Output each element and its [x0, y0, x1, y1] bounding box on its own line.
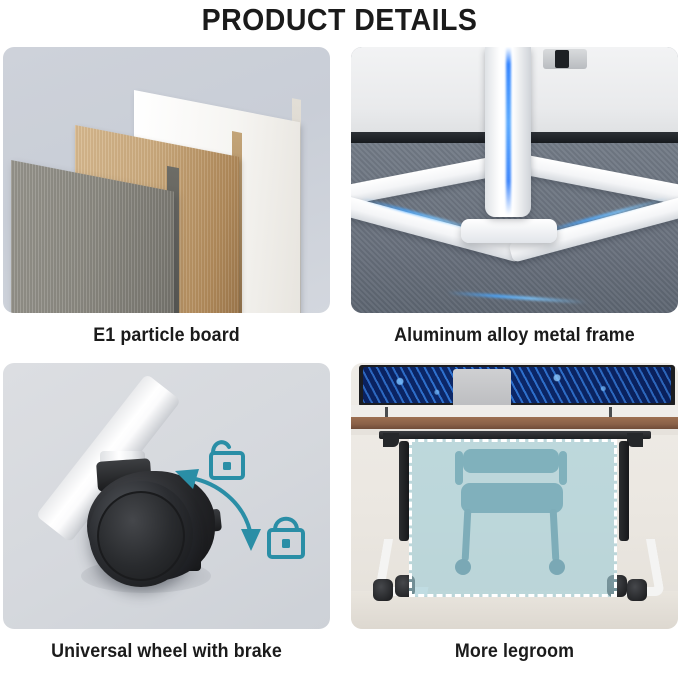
lock-icon	[269, 519, 303, 557]
monitor-screen	[363, 367, 671, 403]
arrow-head-lock	[241, 529, 261, 551]
desk-rail-bar	[379, 431, 651, 439]
curved-double-arrow-icon	[191, 478, 250, 531]
more-legroom-image	[351, 363, 678, 629]
desk-leg-panel-left	[399, 441, 409, 541]
desk-clip-slot	[555, 50, 569, 68]
detail-card-universal-wheel: Universal wheel with brake	[3, 363, 330, 675]
arrow-head-unlock	[175, 469, 199, 489]
metal-frame-image	[351, 47, 678, 313]
leg-blue-glow	[506, 47, 511, 215]
detail-card-particle-board: E1 particle board	[3, 47, 330, 359]
desk-bracket-left	[383, 433, 399, 447]
caption-particle-board: E1 particle board	[13, 313, 320, 359]
legroom-highlight-area	[409, 439, 617, 597]
particle-board-image	[3, 47, 330, 313]
caption-more-legroom: More legroom	[361, 629, 668, 675]
detail-card-more-legroom: More legroom	[351, 363, 678, 675]
detail-card-metal-frame: Aluminum alloy metal frame	[351, 47, 678, 359]
caption-metal-frame: Aluminum alloy metal frame	[361, 313, 668, 359]
desk-bracket-right	[627, 433, 643, 447]
desktop-surface	[351, 417, 678, 429]
frame-center-joint	[461, 219, 557, 243]
caption-universal-wheel: Universal wheel with brake	[13, 629, 320, 675]
unlock-icon	[211, 442, 243, 478]
universal-wheel-image	[3, 363, 330, 629]
desk-leg-panel-right	[619, 441, 629, 541]
page-title: PRODUCT DETAILS	[27, 2, 652, 38]
lock-annotation-group	[3, 363, 330, 629]
desk-caster-right-front	[627, 579, 647, 601]
product-details-infographic: PRODUCT DETAILS E1 particle board	[0, 0, 679, 673]
details-grid: E1 particle board Aluminum al	[3, 47, 676, 667]
desk-caster-left-front	[373, 579, 393, 601]
